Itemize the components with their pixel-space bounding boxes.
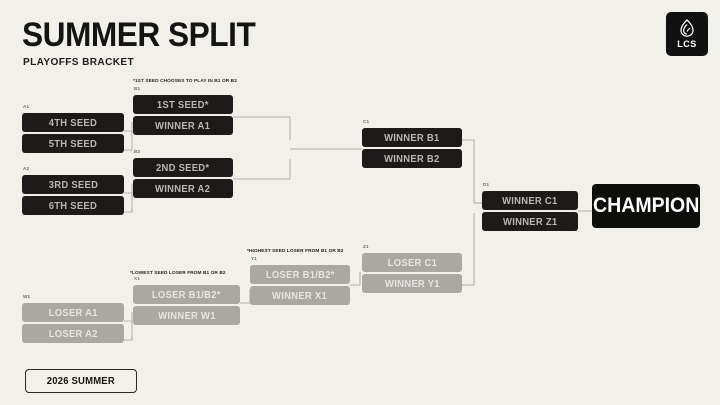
- match-a2[interactable]: A2 3RD SEED 6TH SEED: [22, 175, 124, 215]
- match-id-w1: W1: [23, 294, 30, 299]
- match-x1[interactable]: X1 LOSER B1/B2* WINNER W1: [133, 285, 240, 325]
- match-slot[interactable]: 5TH SEED: [22, 134, 124, 153]
- match-id-d1: D1: [483, 182, 489, 187]
- match-slot[interactable]: WINNER W1: [133, 306, 240, 325]
- bracket-canvas: SUMMER SPLIT PLAYOFFS BRACKET LCS *1ST S…: [0, 0, 720, 405]
- match-y1[interactable]: Y1 LOSER B1/B2* WINNER X1: [250, 265, 350, 305]
- match-slot[interactable]: 3RD SEED: [22, 175, 124, 194]
- match-b1[interactable]: B1 1ST SEED* WINNER A1: [133, 95, 233, 135]
- match-id-a2: A2: [23, 166, 29, 171]
- match-id-b1: B1: [134, 86, 140, 91]
- match-id-z1: Z1: [363, 244, 369, 249]
- match-b2[interactable]: B2 2ND SEED* WINNER A2: [133, 158, 233, 198]
- match-slot[interactable]: 2ND SEED*: [133, 158, 233, 177]
- match-slot[interactable]: 6TH SEED: [22, 196, 124, 215]
- logo-text: LCS: [677, 40, 697, 49]
- match-slot[interactable]: LOSER B1/B2*: [133, 285, 240, 304]
- match-slot[interactable]: WINNER X1: [250, 286, 350, 305]
- note-first-seed-choice: *1ST SEED CHOOSES TO PLAY IN B1 OR B2: [133, 79, 237, 85]
- match-slot[interactable]: WINNER Y1: [362, 274, 462, 293]
- match-slot[interactable]: 1ST SEED*: [133, 95, 233, 114]
- match-slot[interactable]: WINNER C1: [482, 191, 578, 210]
- match-slot[interactable]: LOSER B1/B2*: [250, 265, 350, 284]
- match-id-a1: A1: [23, 104, 29, 109]
- match-slot[interactable]: WINNER A1: [133, 116, 233, 135]
- match-d1[interactable]: D1 WINNER C1 WINNER Z1: [482, 191, 578, 231]
- match-slot[interactable]: LOSER A2: [22, 324, 124, 343]
- match-id-b2: B2: [134, 149, 140, 154]
- match-id-y1: Y1: [251, 256, 257, 261]
- page-subtitle: PLAYOFFS BRACKET: [23, 57, 134, 68]
- match-slot[interactable]: WINNER A2: [133, 179, 233, 198]
- match-slot[interactable]: LOSER A1: [22, 303, 124, 322]
- match-id-x1: X1: [134, 276, 140, 281]
- champion-box: CHAMPION: [592, 184, 700, 228]
- match-slot[interactable]: WINNER B2: [362, 149, 462, 168]
- match-w1[interactable]: W1 LOSER A1 LOSER A2: [22, 303, 124, 343]
- season-label: 2026 SUMMER: [47, 376, 115, 387]
- page-title: SUMMER SPLIT: [22, 18, 255, 52]
- match-a1[interactable]: A1 4TH SEED 5TH SEED: [22, 113, 124, 153]
- match-id-c1: C1: [363, 119, 369, 124]
- match-z1[interactable]: Z1 LOSER C1 WINNER Y1: [362, 253, 462, 293]
- match-slot[interactable]: LOSER C1: [362, 253, 462, 272]
- note-lowest-seed-loser: *LOWEST SEED LOSER FROM B1 OR B2: [130, 271, 226, 277]
- season-badge[interactable]: 2026 SUMMER: [25, 369, 137, 393]
- match-slot[interactable]: 4TH SEED: [22, 113, 124, 132]
- lcs-logo: LCS: [666, 12, 708, 56]
- champion-label: CHAMPION: [593, 194, 699, 218]
- note-highest-seed-loser: *HIGHEST SEED LOSER FROM B1 OR B2: [247, 249, 344, 255]
- match-slot[interactable]: WINNER B1: [362, 128, 462, 147]
- match-c1[interactable]: C1 WINNER B1 WINNER B2: [362, 128, 462, 168]
- flame-icon: [678, 19, 696, 39]
- match-slot[interactable]: WINNER Z1: [482, 212, 578, 231]
